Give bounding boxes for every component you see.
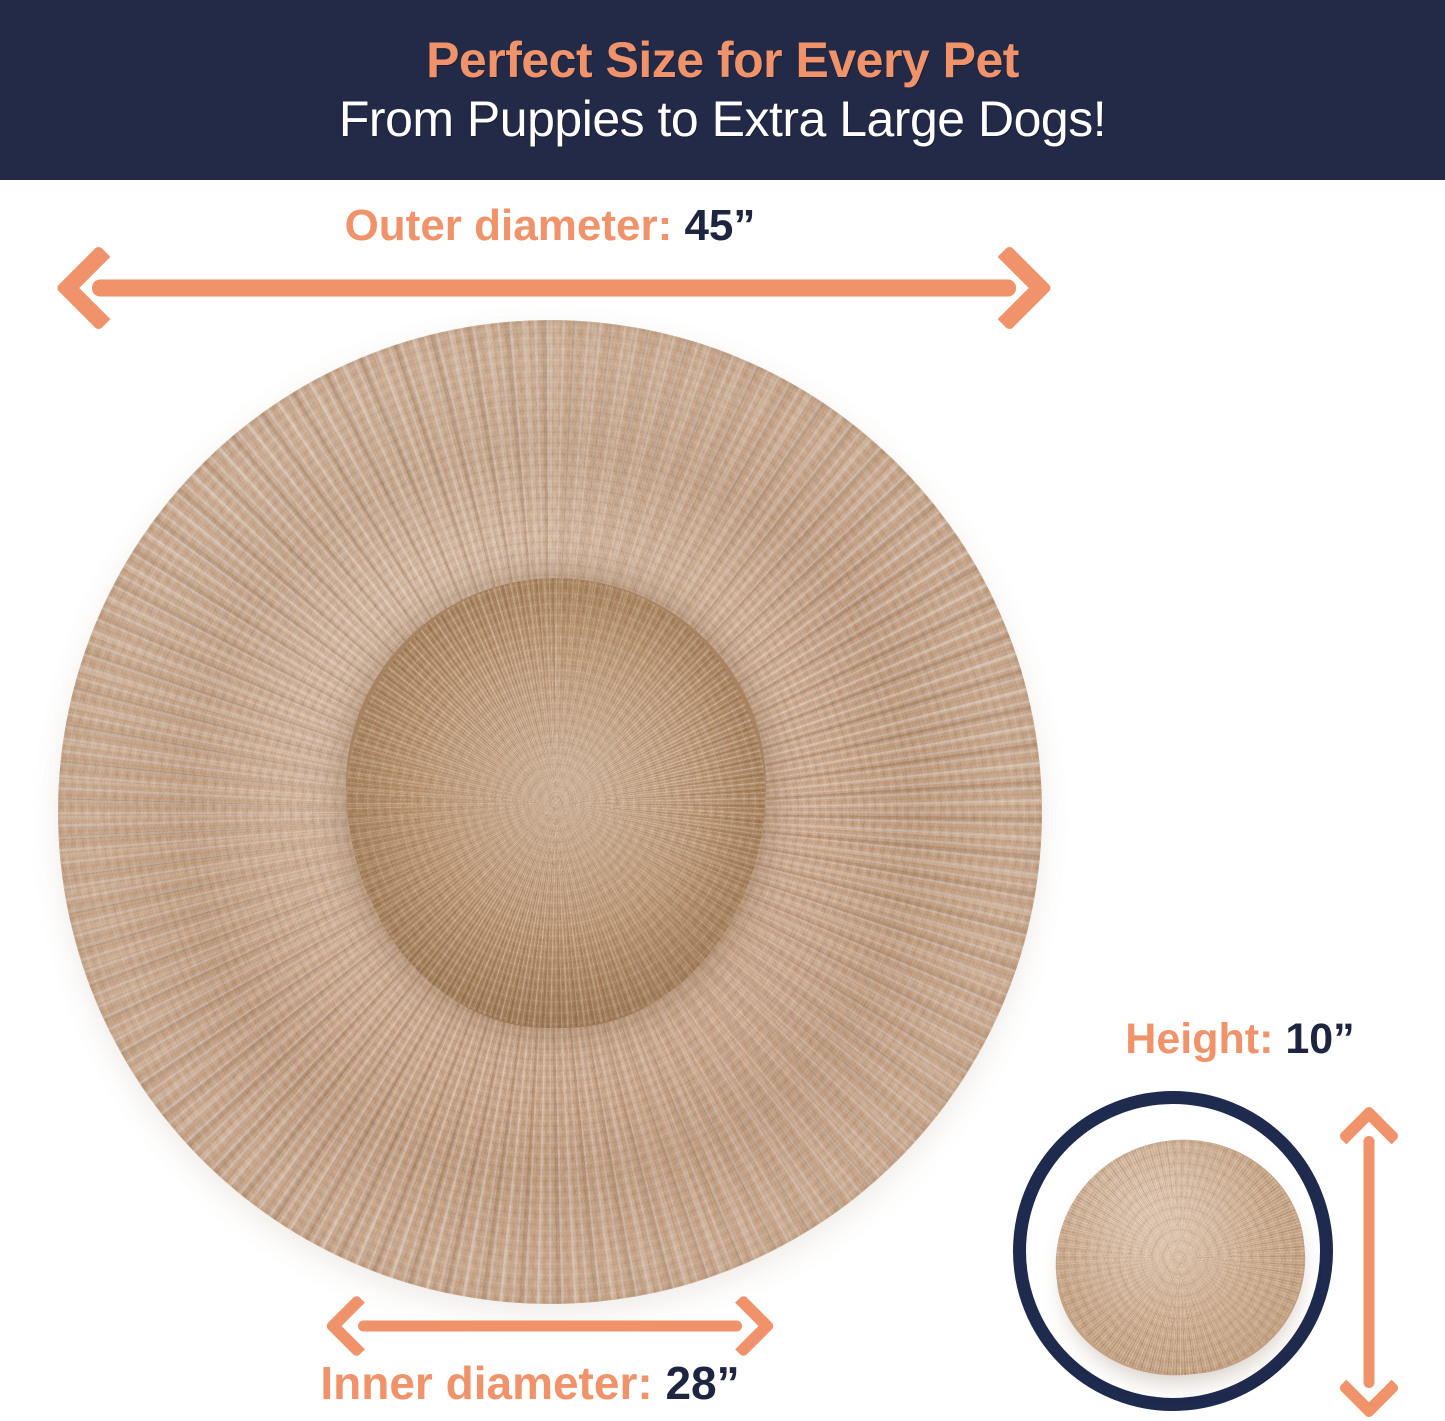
pet-bed-inner-cushion xyxy=(346,578,766,1028)
pet-bed-top-view-image xyxy=(58,320,1042,1304)
arrow-shaft xyxy=(1364,1136,1375,1388)
header-banner: Perfect Size for Every Pet From Puppies … xyxy=(0,0,1445,180)
height-label-text: Height: xyxy=(1125,1015,1273,1063)
height-value: 10” xyxy=(1285,1015,1354,1063)
banner-headline: Perfect Size for Every Pet xyxy=(426,34,1019,87)
outer-diameter-label-text: Outer diameter: xyxy=(345,201,673,250)
arrow-shaft xyxy=(358,1321,742,1332)
banner-subheadline: From Puppies to Extra Large Dogs! xyxy=(339,91,1106,147)
arrow-head-down-icon xyxy=(1338,1357,1400,1419)
arrow-shaft xyxy=(92,280,1016,297)
inner-diameter-label-text: Inner diameter: xyxy=(320,1357,652,1409)
height-arrow-icon xyxy=(1340,1112,1398,1412)
cushion-shading xyxy=(346,578,766,1028)
inner-diameter-label: Inner diameter: 28” xyxy=(0,1360,1060,1406)
outer-diameter-arrow-icon xyxy=(66,258,1042,318)
height-label: Height: 10” xyxy=(1040,1018,1440,1061)
arrow-head-right-icon xyxy=(966,245,1052,331)
inner-diameter-arrow-icon xyxy=(332,1300,768,1352)
outer-diameter-value: 45” xyxy=(684,201,755,250)
inner-diameter-value: 28” xyxy=(665,1357,739,1409)
product-infographic: Perfect Size for Every Pet From Puppies … xyxy=(0,0,1445,1421)
arrow-head-right-icon xyxy=(712,1294,776,1358)
outer-diameter-label: Outer diameter: 45” xyxy=(0,204,1100,248)
